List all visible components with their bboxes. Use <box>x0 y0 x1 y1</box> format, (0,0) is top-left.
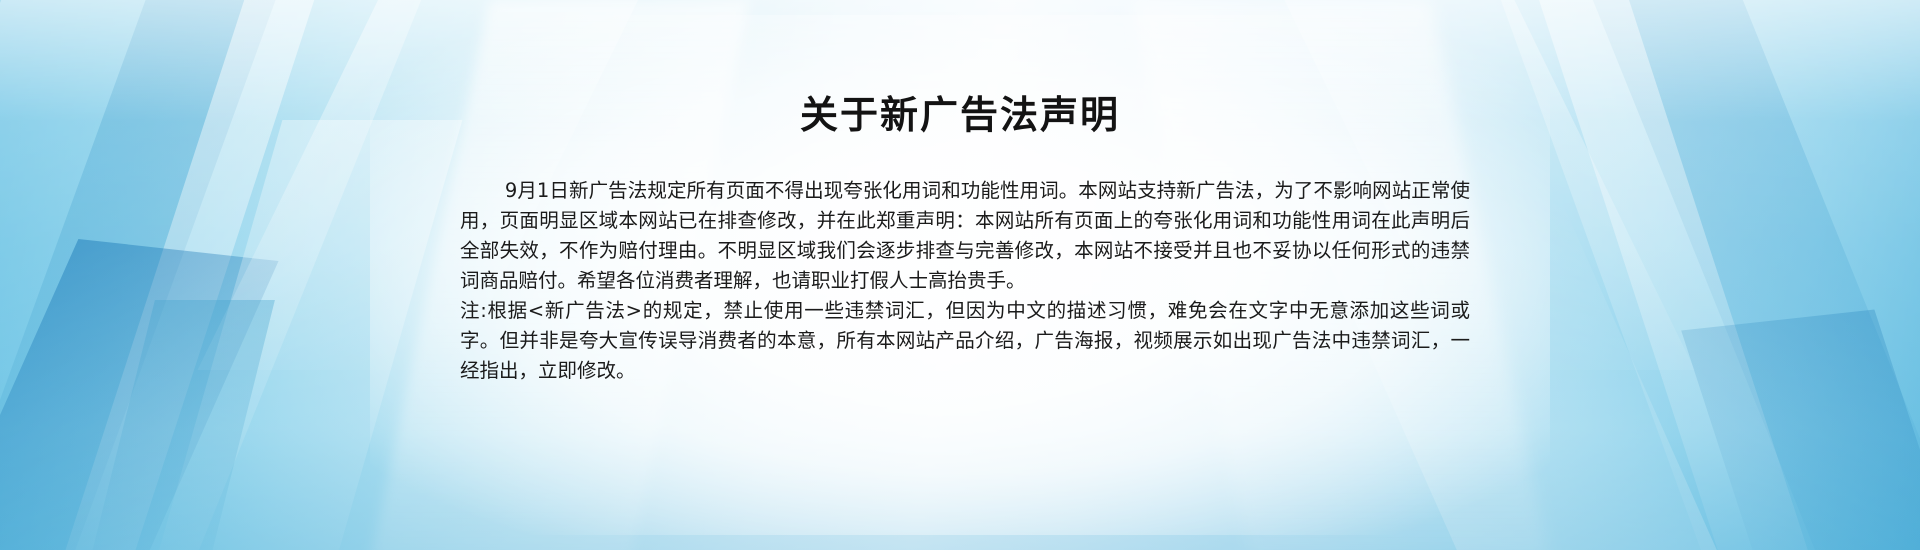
advertising-law-statement-banner: 关于新广告法声明 9月1日新广告法规定所有页面不得出现夸张化用词和功能性用词。本… <box>0 0 1920 550</box>
statement-content: 关于新广告法声明 9月1日新广告法规定所有页面不得出现夸张化用词和功能性用词。本… <box>0 0 1920 550</box>
page-title: 关于新广告法声明 <box>0 84 1920 139</box>
statement-paragraph-note: 注:根据<新广告法>的规定，禁止使用一些违禁词汇，但因为中文的描述习惯，难免会在… <box>460 296 1470 386</box>
statement-body: 9月1日新广告法规定所有页面不得出现夸张化用词和功能性用词。本网站支持新广告法，… <box>460 176 1470 386</box>
statement-paragraph-main: 9月1日新广告法规定所有页面不得出现夸张化用词和功能性用词。本网站支持新广告法，… <box>460 176 1470 296</box>
